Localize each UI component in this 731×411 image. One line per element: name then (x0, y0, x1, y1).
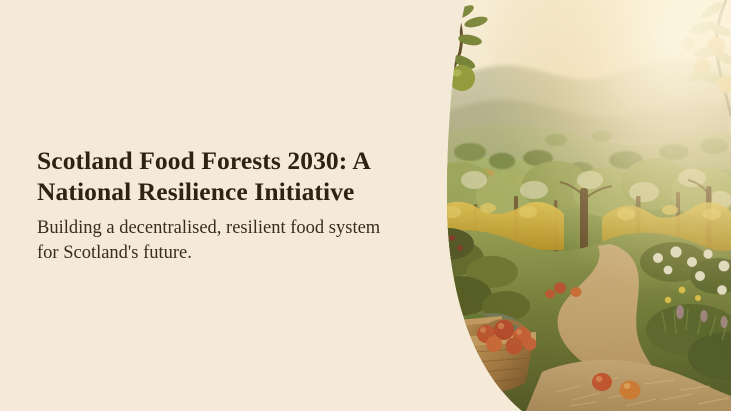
warm-tone-overlay (430, 0, 731, 411)
food-forest-photo (430, 0, 731, 411)
slide-subtitle: Building a decentralised, resilient food… (37, 216, 397, 266)
hero-image (430, 0, 731, 411)
title-slide: Scotland Food Forests 2030: A National R… (0, 0, 731, 411)
slide-text-block: Scotland Food Forests 2030: A National R… (37, 0, 427, 411)
page-title: Scotland Food Forests 2030: A National R… (37, 145, 387, 207)
